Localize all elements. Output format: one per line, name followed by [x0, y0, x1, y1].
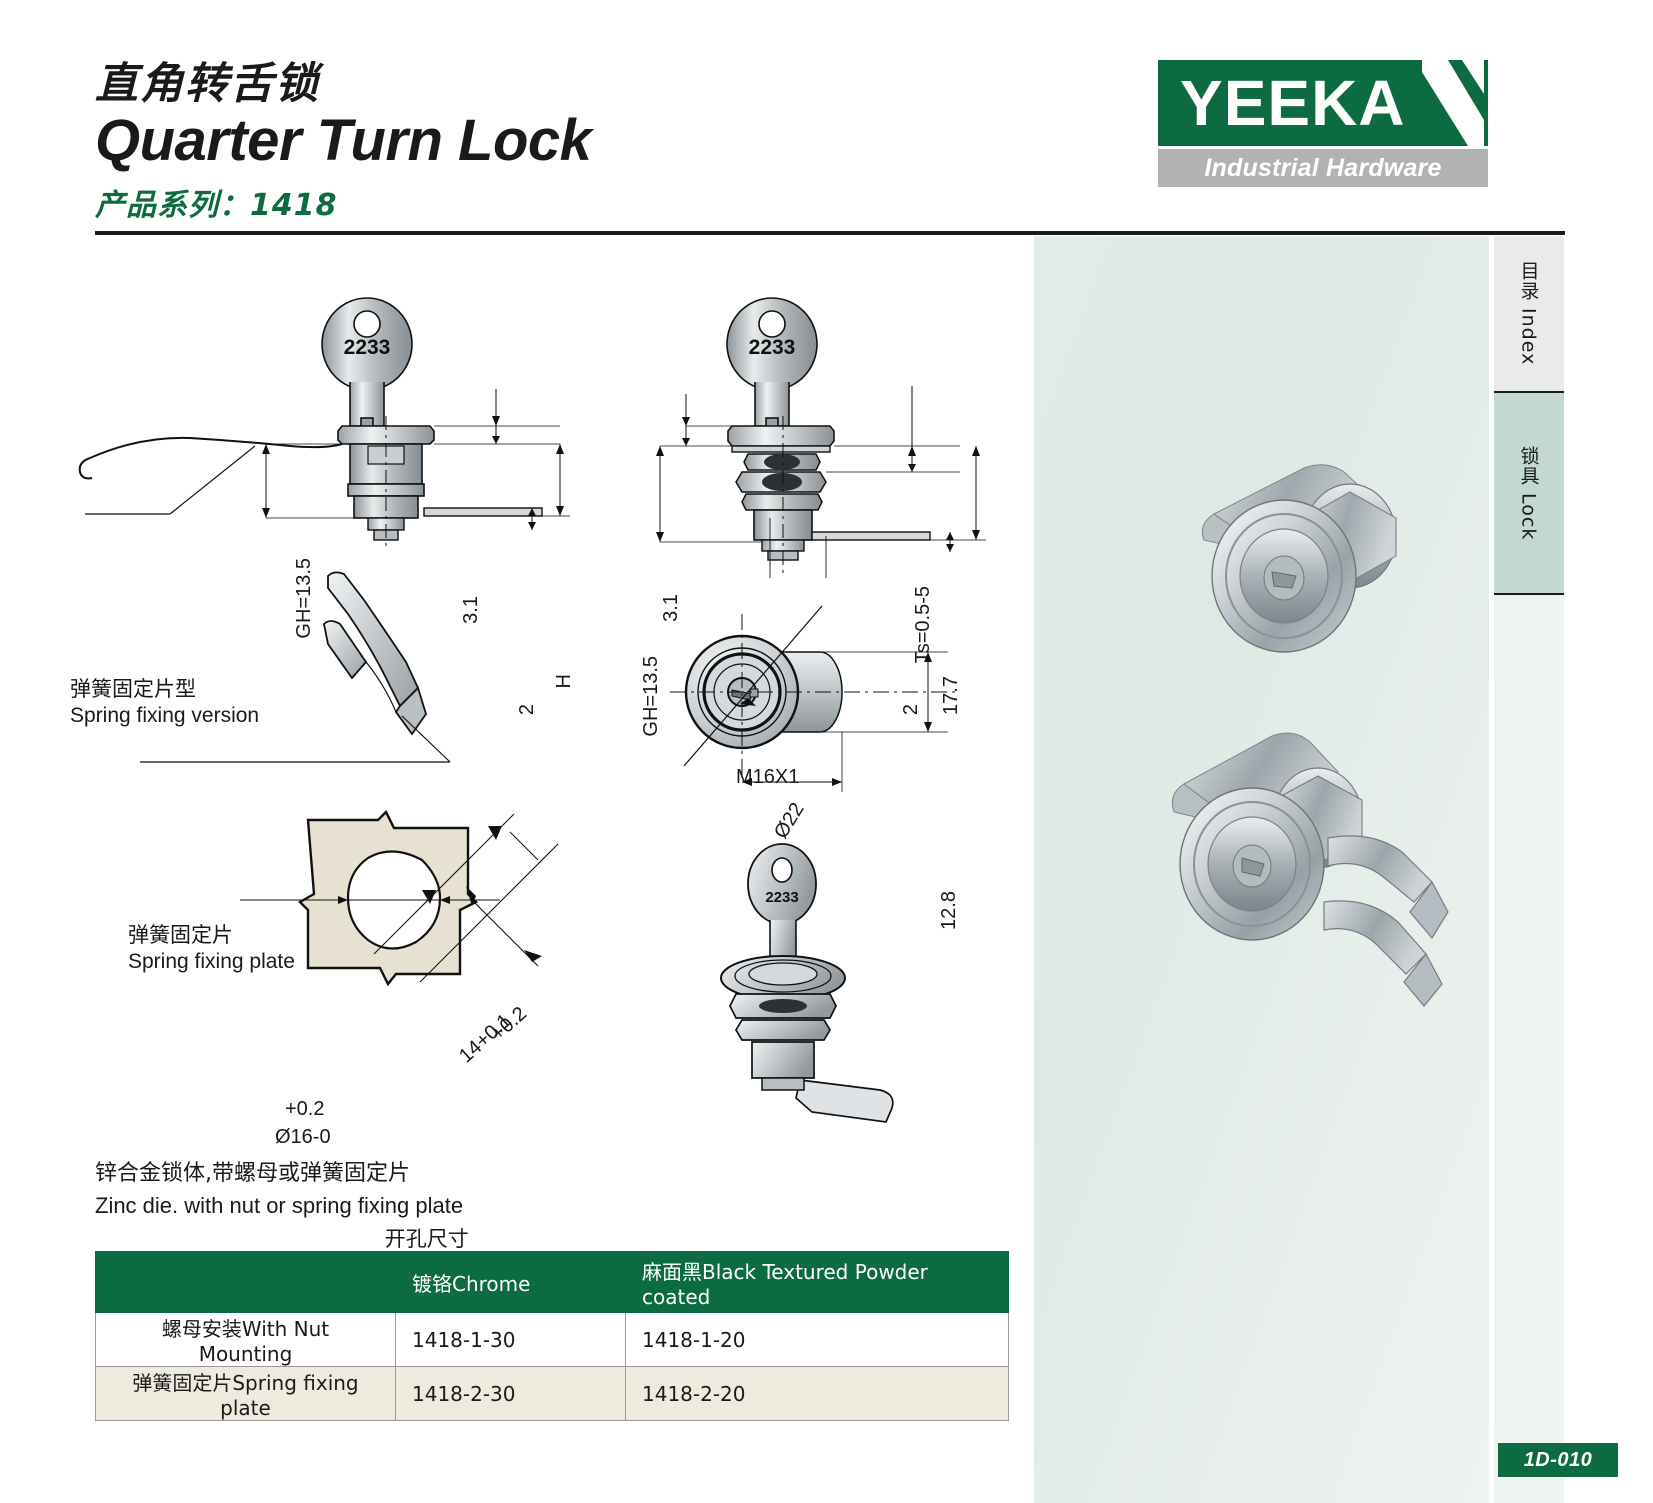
- drawing-spring-fixing-version: 2233: [230, 286, 610, 556]
- drawing-spring-fixing-plate: [300, 566, 500, 766]
- tab-lock[interactable]: 锁具 Lock: [1494, 393, 1564, 595]
- product-photo-panel: [1034, 236, 1489, 1503]
- title-block: 直角转舌锁 Quarter Turn Lock 产品系列：1418: [95, 62, 591, 224]
- dim-12p8: 12.8: [938, 891, 961, 930]
- logo-banner: YEEKA: [1158, 60, 1488, 146]
- tab-index[interactable]: 目录 Index: [1494, 236, 1564, 393]
- logo-wordmark: YEEKA: [1158, 71, 1406, 135]
- drawing-iso-lock-with-key: 2233: [700, 836, 930, 1136]
- tab-lock-label: 锁具 Lock: [1516, 446, 1543, 540]
- dim-h: H: [553, 674, 576, 688]
- table-header-row: 镀铬Chrome 麻面黑Black Textured Powder coated: [96, 1252, 1009, 1313]
- key-code-1: 2233: [344, 336, 391, 359]
- product-series: 产品系列：1418: [95, 180, 591, 224]
- table-row: 螺母安装With Nut Mounting 1418-1-30 1418-1-2…: [96, 1313, 1009, 1367]
- product-title-cn: 直角转舌锁: [95, 62, 591, 107]
- table-row: 弹簧固定片Spring fixing plate 1418-2-30 1418-…: [96, 1367, 1009, 1421]
- cell-nut-chrome: 1418-1-30: [396, 1313, 626, 1367]
- dim-cutout-dia: Ø16-0: [275, 1126, 331, 1149]
- label-spring-version-cn: 弹簧固定片型: [70, 676, 259, 703]
- page-number-badge: 1D-010: [1498, 1443, 1618, 1477]
- dim-cutout-dia-tol: +0.2: [285, 1098, 324, 1121]
- tab-rail-background: [1494, 593, 1564, 1503]
- cell-spring-black: 1418-2-20: [626, 1367, 1009, 1421]
- row-label-nut-mounting: 螺母安装With Nut Mounting: [96, 1313, 396, 1367]
- label-panel-cutout-cn: 开孔尺寸: [366, 1226, 487, 1253]
- product-title-en: Quarter Turn Lock: [95, 109, 591, 174]
- page-header: 直角转舌锁 Quarter Turn Lock 产品系列：1418 YEEKA …: [0, 0, 1653, 232]
- logo-chevron-icon: [1388, 60, 1484, 146]
- table-header-chrome: 镀铬Chrome: [396, 1252, 626, 1313]
- label-spring-fixing-version: 弹簧固定片型 Spring fixing version: [70, 676, 259, 730]
- datasheet-page: 直角转舌锁 Quarter Turn Lock 产品系列：1418 YEEKA …: [0, 0, 1653, 1503]
- logo-subtitle-bar: Industrial Hardware: [1158, 149, 1488, 187]
- header-divider: [95, 231, 1565, 235]
- spec-note: 锌合金锁体,带螺母或弹簧固定片 Zinc die. with nut or sp…: [95, 1158, 463, 1222]
- cell-spring-chrome: 1418-2-30: [396, 1367, 626, 1421]
- yeeka-logo: YEEKA Industrial Hardware: [1158, 60, 1488, 187]
- dim-2-1: 2: [516, 704, 539, 715]
- logo-subtitle: Industrial Hardware: [1204, 154, 1441, 183]
- product-render-spring-version: [1114, 706, 1474, 1096]
- dim-gh-2: GH=13.5: [640, 656, 663, 737]
- tab-index-label: 目录 Index: [1516, 261, 1543, 365]
- key-code-3: 2233: [765, 889, 798, 906]
- product-render-nut-version: [1154, 406, 1434, 706]
- drawing-nut-mounting-version: 2233: [620, 286, 1020, 586]
- spec-note-en: Zinc die. with nut or spring fixing plat…: [95, 1190, 463, 1222]
- row-label-spring-plate: 弹簧固定片Spring fixing plate: [96, 1367, 396, 1421]
- table-header-black: 麻面黑Black Textured Powder coated: [626, 1252, 1009, 1313]
- cell-nut-black: 1418-1-20: [626, 1313, 1009, 1367]
- spec-note-cn: 锌合金锁体,带螺母或弹簧固定片: [95, 1158, 463, 1190]
- drawing-panel-cutout: [270, 786, 590, 1036]
- technical-drawings: 2233: [0, 236, 1034, 1176]
- table-header-blank: [96, 1252, 396, 1313]
- side-tab-rail: 目录 Index 锁具 Lock: [1494, 236, 1564, 595]
- label-spring-version-en: Spring fixing version: [70, 703, 259, 730]
- key-code-2: 2233: [749, 336, 796, 359]
- drawing-front-view: [670, 576, 1000, 806]
- ordering-table: 镀铬Chrome 麻面黑Black Textured Powder coated…: [95, 1251, 1009, 1421]
